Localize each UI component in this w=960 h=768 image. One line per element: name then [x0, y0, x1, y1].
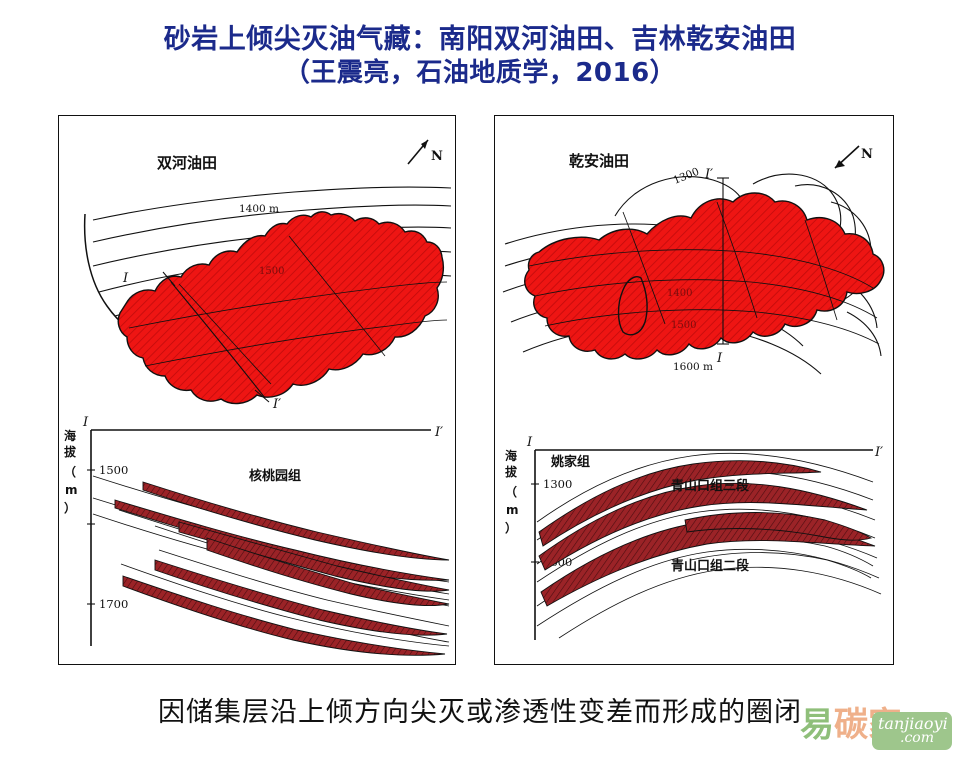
svg-text:m: m	[506, 503, 519, 517]
formation-label-qsk3: 青山口组三段	[671, 478, 749, 494]
section-end-mark: I′	[272, 397, 281, 412]
watermark: 易碳家 tanjiaoyi .com	[800, 706, 952, 758]
section-start-mark: I	[716, 351, 723, 366]
reservoir-sand-bodies	[115, 482, 449, 655]
formation-label: 核桃园组	[249, 468, 301, 484]
svg-text:（: （	[505, 484, 517, 499]
svg-text:海: 海	[505, 448, 517, 463]
watermark-domain-tld: .com	[900, 730, 934, 746]
section-start-mark: I	[526, 435, 533, 450]
contour-label-1500: 1500	[671, 320, 696, 331]
section-start-mark: I	[82, 415, 89, 430]
contour-label-1300: 1300	[672, 166, 701, 187]
contour-label-1600: 1600 m	[673, 361, 713, 373]
watermark-badge: tanjiaoyi .com	[872, 712, 952, 750]
tick-1300: 1300	[543, 477, 572, 491]
title-line-1: 砂岩上倾尖灭油气藏：南阳双河油田、吉林乾安油田	[0, 22, 960, 57]
section-start-mark: I	[122, 271, 129, 286]
contour-label-1400: 1400 m	[239, 203, 279, 215]
svg-text:）: ）	[64, 500, 76, 515]
north-arrow-icon	[835, 146, 859, 168]
pay-area-polygon	[525, 193, 884, 359]
section-end-mark: I′	[874, 445, 883, 460]
elevation-axis-label: 海 拔 （ m ）	[505, 448, 519, 535]
section-end-mark: I′	[704, 167, 713, 182]
formation-label-qsk2: 青山口组二段	[671, 558, 749, 574]
right-figure-panel: 乾安油田 N 1300 1400 1500 1600 m I′ I	[494, 115, 894, 665]
left-figure-panel: 双河油田 N 1400 m 1500 I I′	[58, 115, 456, 665]
north-arrow-icon	[408, 140, 428, 164]
contour-label-1400: 1400	[667, 288, 692, 299]
svg-text:（: （	[64, 464, 76, 479]
tick-1500: 1500	[99, 463, 128, 477]
pay-area-polygon	[118, 212, 443, 404]
watermark-char-green: 易	[800, 705, 834, 745]
formation-label-yaojia: 姚家组	[550, 454, 590, 470]
svg-text:海: 海	[64, 428, 76, 443]
qianan-cross-section: 海 拔 （ m ） 1300 1600 I I′	[495, 414, 893, 664]
field-name-label: 双河油田	[157, 154, 217, 172]
north-label: N	[861, 147, 873, 162]
svg-text:m: m	[65, 483, 78, 497]
section-end-mark: I′	[434, 425, 443, 440]
shuanghe-structure-map: 双河油田 N 1400 m 1500 I I′	[59, 116, 455, 411]
tick-1700: 1700	[99, 597, 128, 611]
north-label: N	[431, 149, 443, 164]
contour-label-1500: 1500	[259, 266, 284, 277]
svg-text:拔: 拔	[64, 444, 77, 459]
svg-text:拔: 拔	[505, 464, 518, 479]
slide-title: 砂岩上倾尖灭油气藏：南阳双河油田、吉林乾安油田 （王震亮，石油地质学，2016）	[0, 22, 960, 91]
title-line-2: （王震亮，石油地质学，2016）	[0, 57, 960, 91]
elevation-axis-label: 海 拔 （ m ）	[64, 428, 78, 515]
svg-text:）: ）	[505, 520, 517, 535]
shuanghe-cross-section: 海 拔 （ m ） 1500 1700 I I′	[59, 414, 455, 664]
qianan-structure-map: 乾安油田 N 1300 1400 1500 1600 m I′ I	[495, 116, 893, 411]
field-name-label: 乾安油田	[569, 152, 629, 170]
